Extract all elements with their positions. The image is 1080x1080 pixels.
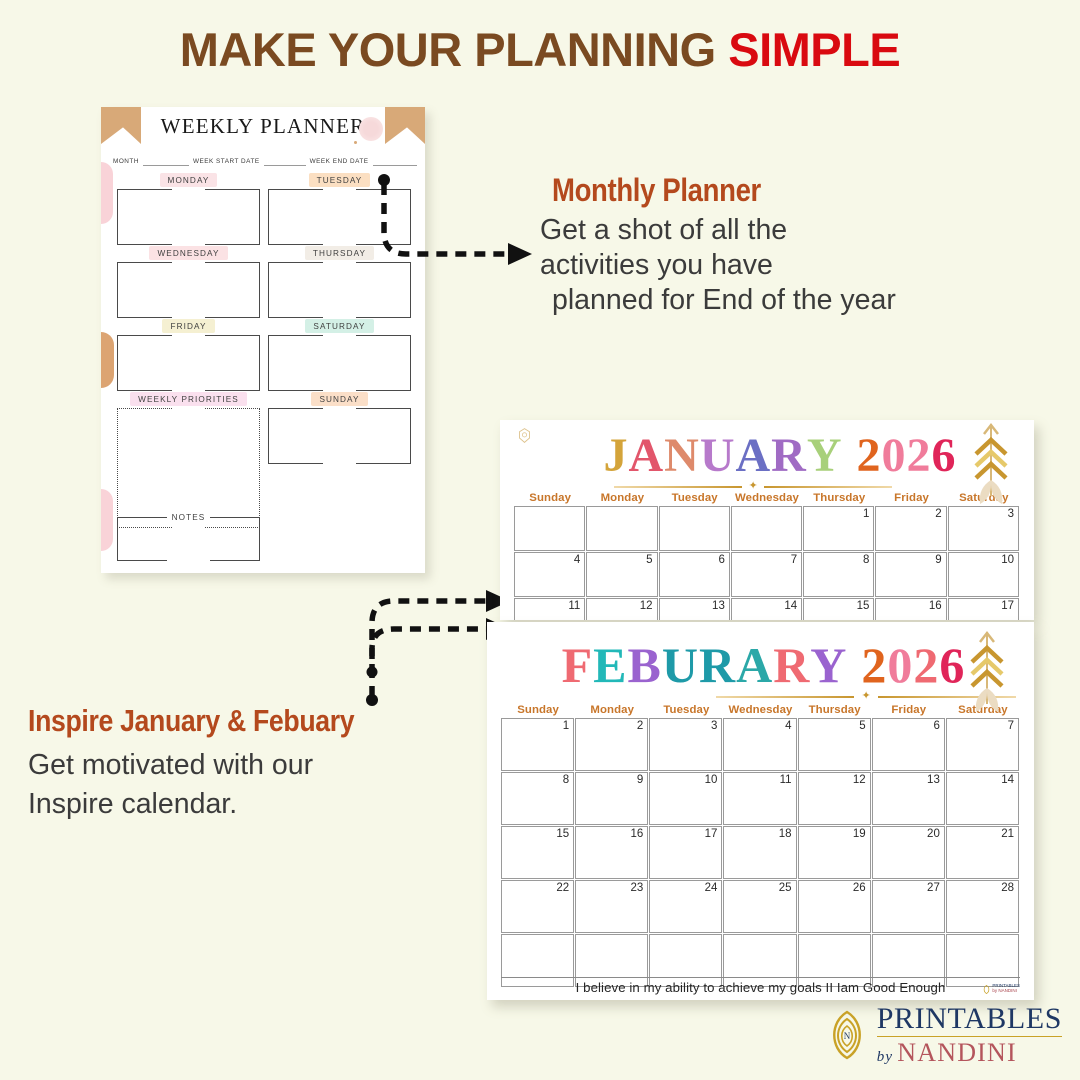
cta-monthly-planner: Monthly Planner Get a shot of all the ac… [540, 172, 896, 317]
calendar-day-cell[interactable]: 13 [872, 772, 945, 825]
weekly-day-grid: MONDAYTUESDAYWEDNESDAYTHURSDAYFRIDAYSATU… [117, 173, 411, 528]
weekday-tuesday: Tuesday [649, 704, 723, 716]
calendar-day-cell[interactable]: 5 [586, 552, 657, 597]
day-number: 16 [929, 600, 942, 612]
weekly-day-friday: FRIDAY [117, 319, 260, 391]
cta-monthly-line-1: Get a shot of all the [540, 213, 896, 248]
week-end-label: WEEK END DATE [310, 158, 369, 166]
calendar-day-cell[interactable]: 17 [948, 598, 1019, 620]
calendar-day-cell[interactable]: 15 [803, 598, 874, 620]
weekday-thursday: Thursday [803, 492, 875, 504]
weekly-day-sunday: SUNDAY [268, 392, 411, 464]
day-number: 12 [853, 774, 866, 786]
day-number: 14 [1001, 774, 1014, 786]
calendar-day-cell[interactable]: 16 [575, 826, 648, 879]
weekday-sunday: Sunday [514, 492, 586, 504]
day-number: 1 [563, 720, 569, 732]
title-letter: N [664, 432, 700, 480]
day-number: 26 [853, 882, 866, 894]
day-number: 28 [1001, 882, 1014, 894]
title-letter: U [662, 640, 699, 690]
weekday-monday: Monday [575, 704, 649, 716]
calendar-day-cell[interactable]: 16 [875, 598, 946, 620]
day-number: 16 [630, 828, 643, 840]
day-number: 11 [780, 774, 792, 786]
day-number: 24 [705, 882, 718, 894]
cta-monthly-body: Get a shot of all the activities you hav… [540, 213, 896, 317]
calendar-title-february: FEBURARY2026 [501, 622, 1020, 690]
calendar-day-cell[interactable]: 19 [798, 826, 871, 879]
svg-text:N: N [843, 1031, 850, 1041]
weekly-priorities: WEEKLY PRIORITIES [117, 392, 260, 528]
weekly-day-tuesday: TUESDAY [268, 173, 411, 245]
calendar-day-cell[interactable]: 3 [649, 718, 722, 771]
day-number: 5 [646, 554, 652, 566]
affirmation-text: I believe in my ability to achieve my go… [576, 980, 946, 995]
arrow-feather-decor-icon [968, 422, 1014, 514]
day-number: 15 [556, 828, 569, 840]
calendar-day-cell[interactable]: 12 [586, 598, 657, 620]
calendar-day-cell[interactable]: 28 [946, 880, 1019, 933]
weekday-header-january: SundayMondayTuesdayWednesdayThursdayFrid… [514, 492, 1020, 504]
calendar-day-cell[interactable]: 9 [875, 552, 946, 597]
day-number: 9 [637, 774, 643, 786]
weekday-header-february: SundayMondayTuesdayWednesdayThursdayFrid… [501, 704, 1020, 716]
calendar-day-cell[interactable]: 4 [723, 718, 796, 771]
day-number: 1 [863, 508, 869, 520]
notes-section: NOTES [117, 513, 260, 561]
day-number: 17 [1001, 600, 1014, 612]
calendar-day-cell[interactable]: 6 [659, 552, 730, 597]
day-chip-tuesday: TUESDAY [309, 173, 371, 187]
calendar-day-cell[interactable]: 6 [872, 718, 945, 771]
calendar-day-cell[interactable]: 21 [946, 826, 1019, 879]
calendar-title-january: JANUARY2026 [514, 420, 1020, 480]
calendar-day-cell[interactable]: 23 [575, 880, 648, 933]
day-box-sunday[interactable] [268, 408, 411, 464]
day-number: 6 [718, 554, 724, 566]
priorities-chip: WEEKLY PRIORITIES [130, 392, 247, 406]
month-input-line[interactable] [143, 157, 189, 166]
day-number: 23 [630, 882, 643, 894]
calendar-day-cell[interactable]: 3 [948, 506, 1019, 551]
calendar-day-cell[interactable]: 10 [948, 552, 1019, 597]
cta-inspire-line-2: Inspire calendar. [28, 785, 407, 824]
weekday-thursday: Thursday [798, 704, 872, 716]
calendar-day-cell[interactable]: 11 [514, 598, 585, 620]
calendar-day-cell[interactable]: 1 [803, 506, 874, 551]
day-chip-thursday: THURSDAY [305, 246, 374, 260]
cta-monthly-line-2: activities you have [540, 248, 896, 283]
calendar-rule-january: ✦ [614, 482, 892, 491]
notes-label: NOTES [167, 513, 211, 522]
day-number: 27 [927, 882, 940, 894]
week-start-label: WEEK START DATE [193, 158, 260, 166]
edge-blob-tan [101, 332, 114, 388]
day-grid-february: 1234567891011121314151617181920212223242… [501, 718, 1020, 988]
edge-blob-pink-bottom [101, 489, 113, 551]
day-number: 10 [705, 774, 718, 786]
weekday-friday: Friday [872, 704, 946, 716]
calendar-day-cell[interactable] [731, 506, 802, 551]
weekday-wednesday: Wednesday [723, 704, 797, 716]
headline-part1: MAKE YOUR PLANNING [180, 23, 728, 76]
day-grid-january: 1234567891011121314151617 [514, 506, 1020, 620]
calendar-day-cell[interactable]: 5 [798, 718, 871, 771]
day-number: 3 [1008, 508, 1014, 520]
day-number: 22 [556, 882, 569, 894]
calendar-day-cell[interactable]: 14 [946, 772, 1019, 825]
arrow-feather-decor-icon [964, 630, 1010, 722]
calendar-day-cell[interactable]: 14 [731, 598, 802, 620]
day-number: 7 [1008, 720, 1014, 732]
day-number: 12 [640, 600, 653, 612]
calendar-day-cell[interactable]: 7 [946, 718, 1019, 771]
footer-brand-bottom: by NANDINI [992, 988, 1017, 993]
footer-brand-logo: PRINTABLES by NANDINI [982, 984, 1020, 994]
day-number: 2 [637, 720, 643, 732]
cta-inspire-title: Inspire January & Febuary [28, 703, 354, 739]
title-letter: A [736, 432, 772, 480]
day-number: 15 [857, 600, 870, 612]
headline-accent: SIMPLE [728, 23, 900, 76]
calendar-card-january[interactable]: JANUARY2026 ✦ SundayMondayTuesdayWednesd… [500, 420, 1034, 620]
notes-box[interactable] [117, 517, 260, 561]
calendar-day-cell[interactable]: 26 [798, 880, 871, 933]
day-chip-sunday: SUNDAY [311, 392, 367, 406]
weekday-friday: Friday [875, 492, 947, 504]
day-number: 18 [779, 828, 792, 840]
day-number: 8 [863, 554, 869, 566]
day-number: 19 [853, 828, 866, 840]
day-number: 8 [563, 774, 569, 786]
brand-name-top: PRINTABLES [877, 1004, 1062, 1034]
title-letter: A [628, 432, 664, 480]
weekly-meta-row: MONTH WEEK START DATE WEEK END DATE [113, 157, 418, 166]
brand-mark-icon [982, 985, 991, 994]
weekday-wednesday: Wednesday [731, 492, 803, 504]
calendar-day-cell[interactable]: 13 [659, 598, 730, 620]
weekday-tuesday: Tuesday [659, 492, 731, 504]
page-headline: MAKE YOUR PLANNING SIMPLE [0, 22, 1080, 77]
calendar-day-cell[interactable] [514, 506, 585, 551]
day-box-saturday[interactable] [268, 335, 411, 391]
calendar-day-cell[interactable]: 7 [731, 552, 802, 597]
cta-inspire-calendar: Inspire January & Febuary Get motivated … [28, 703, 407, 825]
weekly-day-wednesday: WEDNESDAY [117, 246, 260, 318]
week-end-input-line[interactable] [373, 157, 417, 166]
calendar-day-cell[interactable]: 27 [872, 880, 945, 933]
cta-inspire-body: Get motivated with our Inspire calendar. [28, 746, 407, 825]
day-box-monday[interactable] [117, 189, 260, 245]
confetti-circle-icon [359, 117, 383, 141]
calendar-day-cell[interactable]: 24 [649, 880, 722, 933]
brand-divider [877, 1036, 1062, 1037]
cta-monthly-line-3: planned for End of the year [540, 283, 896, 318]
title-year: 2026 [861, 640, 965, 690]
day-number: 13 [927, 774, 940, 786]
title-letter: E [593, 640, 627, 690]
calendar-day-cell[interactable] [586, 506, 657, 551]
day-number: 13 [712, 600, 725, 612]
brand-logo[interactable]: N PRINTABLES by NANDINI [824, 1004, 1062, 1066]
weekly-planner-card[interactable]: WEEKLY PLANNER MONTH WEEK START DATE WEE… [101, 107, 425, 573]
calendar-day-cell[interactable]: 25 [723, 880, 796, 933]
calendar-day-cell[interactable]: 17 [649, 826, 722, 879]
day-number: 2 [935, 508, 941, 520]
title-letter: R [771, 432, 807, 480]
calendar-day-cell[interactable]: 9 [575, 772, 648, 825]
day-box-wednesday[interactable] [117, 262, 260, 318]
calendar-day-cell[interactable]: 11 [723, 772, 796, 825]
day-box-friday[interactable] [117, 335, 260, 391]
calendar-day-cell[interactable]: 2 [575, 718, 648, 771]
weekly-day-saturday: SATURDAY [268, 319, 411, 391]
day-number: 5 [859, 720, 865, 732]
calendar-day-cell[interactable] [659, 506, 730, 551]
weekly-day-thursday: THURSDAY [268, 246, 411, 318]
day-number: 7 [791, 554, 797, 566]
title-letter: U [700, 432, 736, 480]
day-number: 21 [1001, 828, 1014, 840]
title-letter: R [699, 640, 736, 690]
day-number: 3 [711, 720, 717, 732]
day-number: 10 [1001, 554, 1014, 566]
calendar-day-cell[interactable]: 4 [514, 552, 585, 597]
priorities-box[interactable] [117, 408, 260, 528]
calendar-day-cell[interactable]: 22 [501, 880, 574, 933]
day-chip-wednesday: WEDNESDAY [149, 246, 227, 260]
calendar-day-cell[interactable]: 18 [723, 826, 796, 879]
title-letter: J [603, 432, 628, 480]
day-number: 14 [784, 600, 797, 612]
week-start-input-line[interactable] [264, 157, 306, 166]
month-label: MONTH [113, 158, 139, 166]
day-chip-monday: MONDAY [160, 173, 218, 187]
calendar-day-cell[interactable]: 1 [501, 718, 574, 771]
title-letter: B [628, 640, 662, 690]
title-year: 2026 [857, 432, 957, 480]
calendar-day-cell[interactable]: 8 [501, 772, 574, 825]
cta-monthly-title: Monthly Planner [552, 172, 848, 209]
weekly-day-monday: MONDAY [117, 173, 260, 245]
day-number: 17 [705, 828, 718, 840]
cta-inspire-line-1: Get motivated with our [28, 746, 407, 785]
day-number: 4 [574, 554, 580, 566]
day-number: 25 [779, 882, 792, 894]
brand-name-bottom: NANDINI [897, 1040, 1017, 1066]
weekday-monday: Monday [586, 492, 658, 504]
calendar-card-february[interactable]: FEBURARY2026 ✦ SundayMondayTuesdayWednes… [487, 622, 1034, 1000]
day-number: 20 [927, 828, 940, 840]
day-box-tuesday[interactable] [268, 189, 411, 245]
calendar-day-cell[interactable]: 8 [803, 552, 874, 597]
seal-badge-icon [518, 428, 531, 443]
title-letter: A [736, 640, 773, 690]
calendar-footer-february: I believe in my ability to achieve my go… [501, 977, 1020, 995]
day-number: 11 [568, 600, 580, 612]
edge-blob-pink-top [101, 162, 113, 224]
day-box-thursday[interactable] [268, 262, 411, 318]
day-number: 4 [785, 720, 791, 732]
calendar-day-cell[interactable]: 12 [798, 772, 871, 825]
calendar-day-cell[interactable]: 2 [875, 506, 946, 551]
day-chip-friday: FRIDAY [162, 319, 214, 333]
brand-by-word: by [877, 1050, 894, 1065]
weekday-sunday: Sunday [501, 704, 575, 716]
title-letter: F [562, 640, 594, 690]
title-letter: Y [810, 640, 847, 690]
title-letter: R [773, 640, 810, 690]
brand-flame-leaf-icon: N [824, 1010, 870, 1060]
day-number: 6 [933, 720, 939, 732]
day-number: 9 [935, 554, 941, 566]
calendar-day-cell[interactable]: 20 [872, 826, 945, 879]
calendar-day-cell[interactable]: 10 [649, 772, 722, 825]
day-chip-saturday: SATURDAY [305, 319, 373, 333]
title-letter: Y [807, 432, 843, 480]
calendar-day-cell[interactable]: 15 [501, 826, 574, 879]
